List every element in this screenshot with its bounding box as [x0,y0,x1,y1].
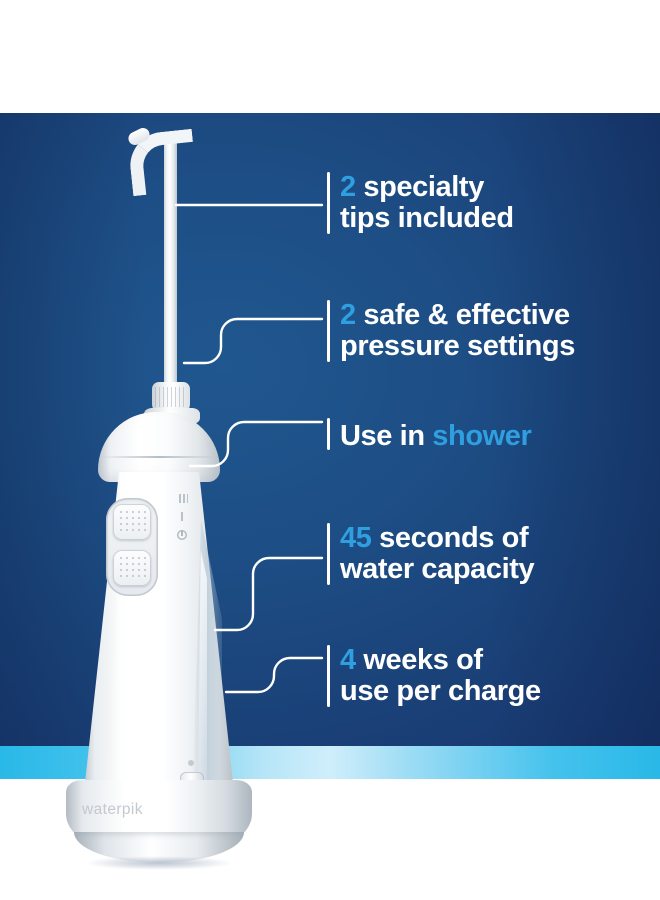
callout-bar-2 [327,300,330,362]
pressure-select-button [113,504,151,540]
power-button [113,550,151,586]
product-image-waterpik-flosser: waterpik [40,120,270,760]
callout-3-line-1-pre: Use in [340,420,432,452]
callout-1-line-2: tips included [340,203,514,234]
callout-water-capacity: 45 seconds of water capacity [340,523,534,584]
callout-4-accent: 45 [340,522,371,554]
callout-2-accent: 2 [340,299,356,331]
callout-pressure-settings: 2 safe & effective pressure settings [340,300,575,361]
high-pressure-indicator-icon [179,494,188,503]
brand-logo: waterpik [82,801,202,819]
callout-5-line-2: use per charge [340,676,541,707]
callout-5-accent: 4 [340,644,356,676]
device-shadow [84,856,234,870]
callout-5-line-1: 4 weeks of [340,645,541,676]
callout-1-line-1: 2 specialty [340,172,514,203]
callout-bar-1 [327,172,330,234]
handle-top-dome [98,412,220,482]
power-indicator-icon [177,530,187,540]
product-feature-graphic: waterpik 2 specialty tips included 2 saf… [0,0,660,900]
callout-bar-3 [327,418,330,450]
callout-3-accent: shower [432,420,531,452]
callout-4-line-1: 45 seconds of [340,523,534,554]
callout-4-line-1-rest: seconds of [371,522,528,554]
top-white-band [0,0,660,113]
callout-tips-included: 2 specialty tips included [340,172,514,233]
low-pressure-indicator-icon [181,512,183,521]
callout-2-line-1: 2 safe & effective [340,300,575,331]
callout-4-line-2: water capacity [340,554,534,585]
callout-bar-4 [327,523,330,585]
callout-1-accent: 2 [340,171,356,203]
callout-3-line-1: Use in shower [340,421,531,452]
callout-battery-life: 4 weeks of use per charge [340,645,541,706]
callout-2-line-2: pressure settings [340,331,575,362]
callout-bar-5 [327,645,330,707]
callout-5-line-1-rest: weeks of [356,644,483,676]
latch-dot [188,760,194,766]
callout-2-line-1-rest: safe & effective [356,299,570,331]
callout-use-in-shower: Use in shower [340,421,531,452]
handle-seam [100,456,218,458]
callout-1-line-1-rest: specialty [356,171,484,203]
